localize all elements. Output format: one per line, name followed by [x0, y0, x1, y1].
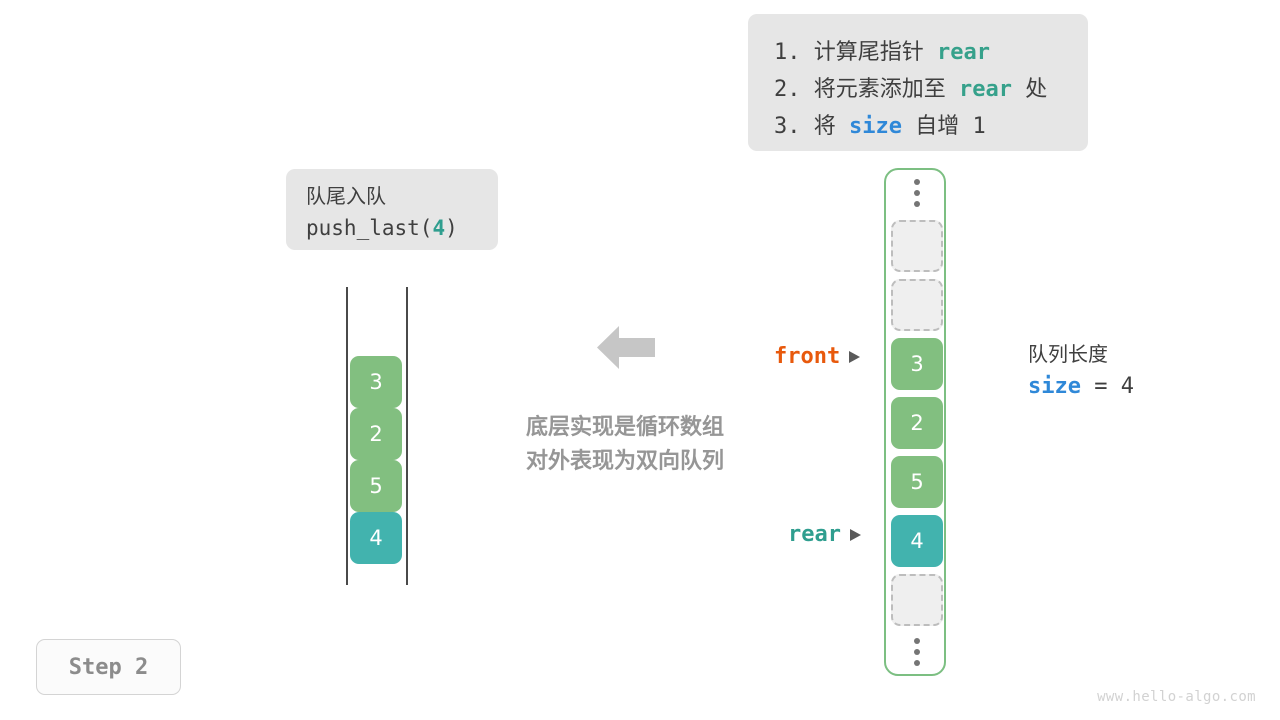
center-note-line-1: 底层实现是循环数组 [500, 410, 750, 444]
diagram-canvas: 1. 计算尾指针 rear 2. 将元素添加至 rear 处 3. 将 size… [0, 0, 1280, 720]
operation-code-suffix: ) [445, 216, 458, 240]
pointer-arrow-icon [849, 351, 860, 363]
instruction-line-2-text: 2. 将元素添加至 [774, 77, 959, 102]
instruction-line-1: 1. 计算尾指针 rear [774, 34, 1062, 71]
instruction-line-3-text: 3. 将 [774, 114, 849, 139]
deque-cell-list: 3 2 5 4 [350, 356, 402, 564]
instruction-line-3-suffix: 自增 1 [902, 114, 986, 139]
array-slot: 2 [889, 393, 945, 452]
pointer-front: front [774, 344, 860, 369]
size-annotation-value: size = 4 [1028, 370, 1134, 404]
instruction-line-3: 3. 将 size 自增 1 [774, 108, 1062, 145]
array-cell: 3 [891, 338, 943, 390]
instruction-line-2: 2. 将元素添加至 rear 处 [774, 71, 1062, 108]
array-slot [889, 275, 945, 334]
operation-code-prefix: push_last( [306, 216, 432, 240]
array-cell: 5 [891, 456, 943, 508]
deque-column: 3 2 5 4 [346, 287, 408, 585]
size-variable: size [1028, 374, 1081, 399]
array-cell: 4 [891, 515, 943, 567]
size-annotation: 队列长度 size = 4 [1028, 340, 1134, 404]
array-slot [889, 570, 945, 629]
step-badge: Step 2 [36, 639, 181, 695]
array-cell: 2 [891, 397, 943, 449]
size-number: 4 [1121, 374, 1134, 399]
circular-array-container: 3 2 5 4 [884, 168, 946, 676]
size-equals: = [1081, 374, 1121, 399]
deque-rail-left [346, 287, 348, 585]
center-note-line-2: 对外表现为双向队列 [500, 444, 750, 478]
deque-rail-right [406, 287, 408, 585]
array-slot: 5 [889, 452, 945, 511]
operation-code-argument: 4 [432, 216, 445, 240]
deque-cell: 4 [350, 512, 402, 564]
deque-cell: 2 [350, 408, 402, 460]
array-cell-empty [891, 279, 943, 331]
keyword-rear: rear [959, 77, 1012, 102]
operation-code: push_last(4) [306, 213, 498, 243]
flow-arrow-left-icon [597, 322, 655, 373]
pointer-front-label: front [774, 344, 840, 369]
pointer-arrow-icon [850, 529, 861, 541]
ellipsis-dots-bottom-icon [889, 629, 945, 675]
ellipsis-dots-top-icon [889, 170, 945, 216]
instruction-line-2-suffix: 处 [1012, 77, 1047, 102]
pointer-rear-label: rear [788, 522, 841, 547]
array-slot: 3 [889, 334, 945, 393]
center-note: 底层实现是循环数组 对外表现为双向队列 [500, 410, 750, 478]
operation-panel: 队尾入队 push_last(4) [286, 169, 498, 250]
array-slot-list: 3 2 5 4 [889, 170, 945, 675]
array-cell-empty [891, 220, 943, 272]
keyword-size: size [849, 114, 902, 139]
size-annotation-title: 队列长度 [1028, 340, 1134, 370]
keyword-rear: rear [937, 40, 990, 65]
instruction-line-1-text: 1. 计算尾指针 [774, 40, 937, 65]
array-cell-empty [891, 574, 943, 626]
deque-cell: 3 [350, 356, 402, 408]
operation-title: 队尾入队 [306, 181, 498, 213]
step-badge-label: Step 2 [69, 655, 148, 680]
pointer-rear: rear [788, 522, 861, 547]
instruction-panel: 1. 计算尾指针 rear 2. 将元素添加至 rear 处 3. 将 size… [748, 14, 1088, 151]
array-slot: 4 [889, 511, 945, 570]
watermark: www.hello-algo.com [1097, 689, 1256, 705]
deque-cell: 5 [350, 460, 402, 512]
array-slot [889, 216, 945, 275]
